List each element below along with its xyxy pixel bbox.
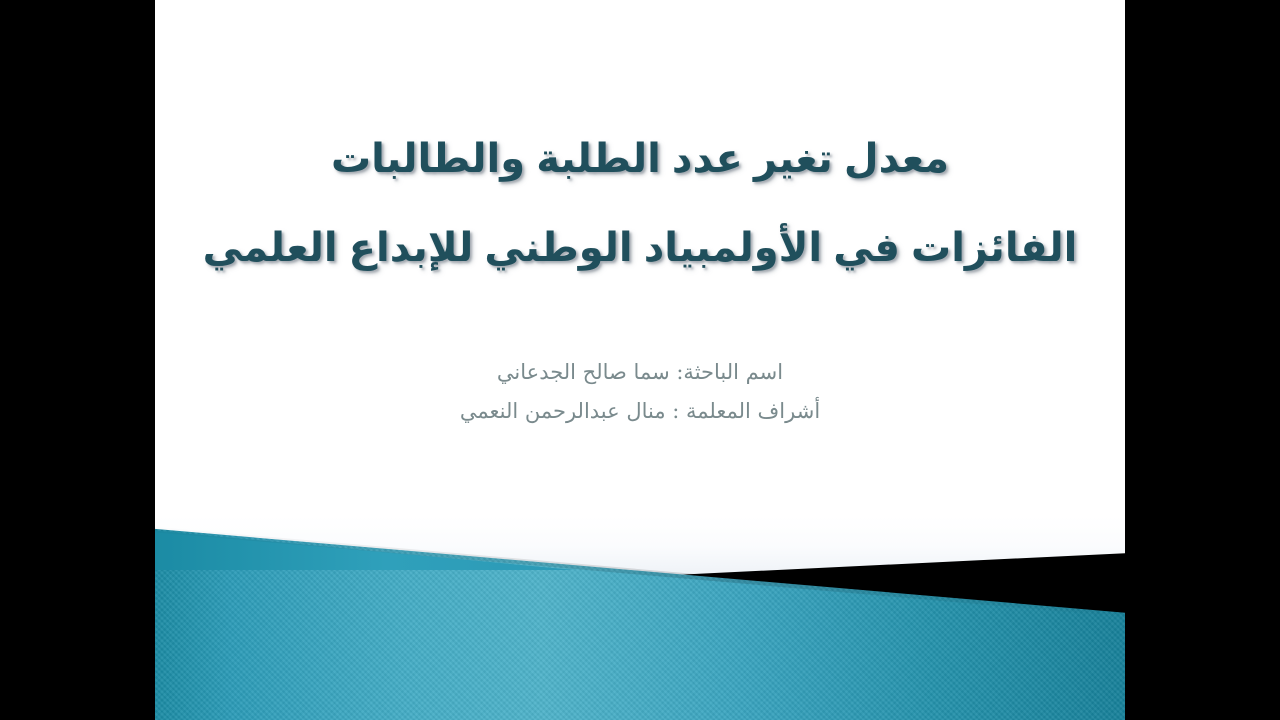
video-frame: معدل تغير عدد الطلبة والطالبات الفائزات … bbox=[0, 0, 1280, 720]
slide-subtitle: اسم الباحثة: سما صالح الجدعاني أشراف الم… bbox=[155, 362, 1125, 422]
researcher-name-line: اسم الباحثة: سما صالح الجدعاني bbox=[155, 362, 1125, 383]
slide-text-area: معدل تغير عدد الطلبة والطالبات الفائزات … bbox=[155, 0, 1125, 525]
presentation-slide: معدل تغير عدد الطلبة والطالبات الفائزات … bbox=[155, 0, 1125, 720]
title-line-2: الفائزات في الأولمبياد الوطني للإبداع ال… bbox=[155, 227, 1125, 270]
letterbox-bar-right bbox=[1125, 0, 1280, 720]
title-line-1: معدل تغير عدد الطلبة والطالبات bbox=[155, 138, 1125, 181]
slide-title: معدل تغير عدد الطلبة والطالبات الفائزات … bbox=[155, 138, 1125, 270]
supervisor-name-line: أشراف المعلمة : منال عبدالرحمن النعمي bbox=[155, 401, 1125, 422]
letterbox-bar-left bbox=[0, 0, 155, 720]
